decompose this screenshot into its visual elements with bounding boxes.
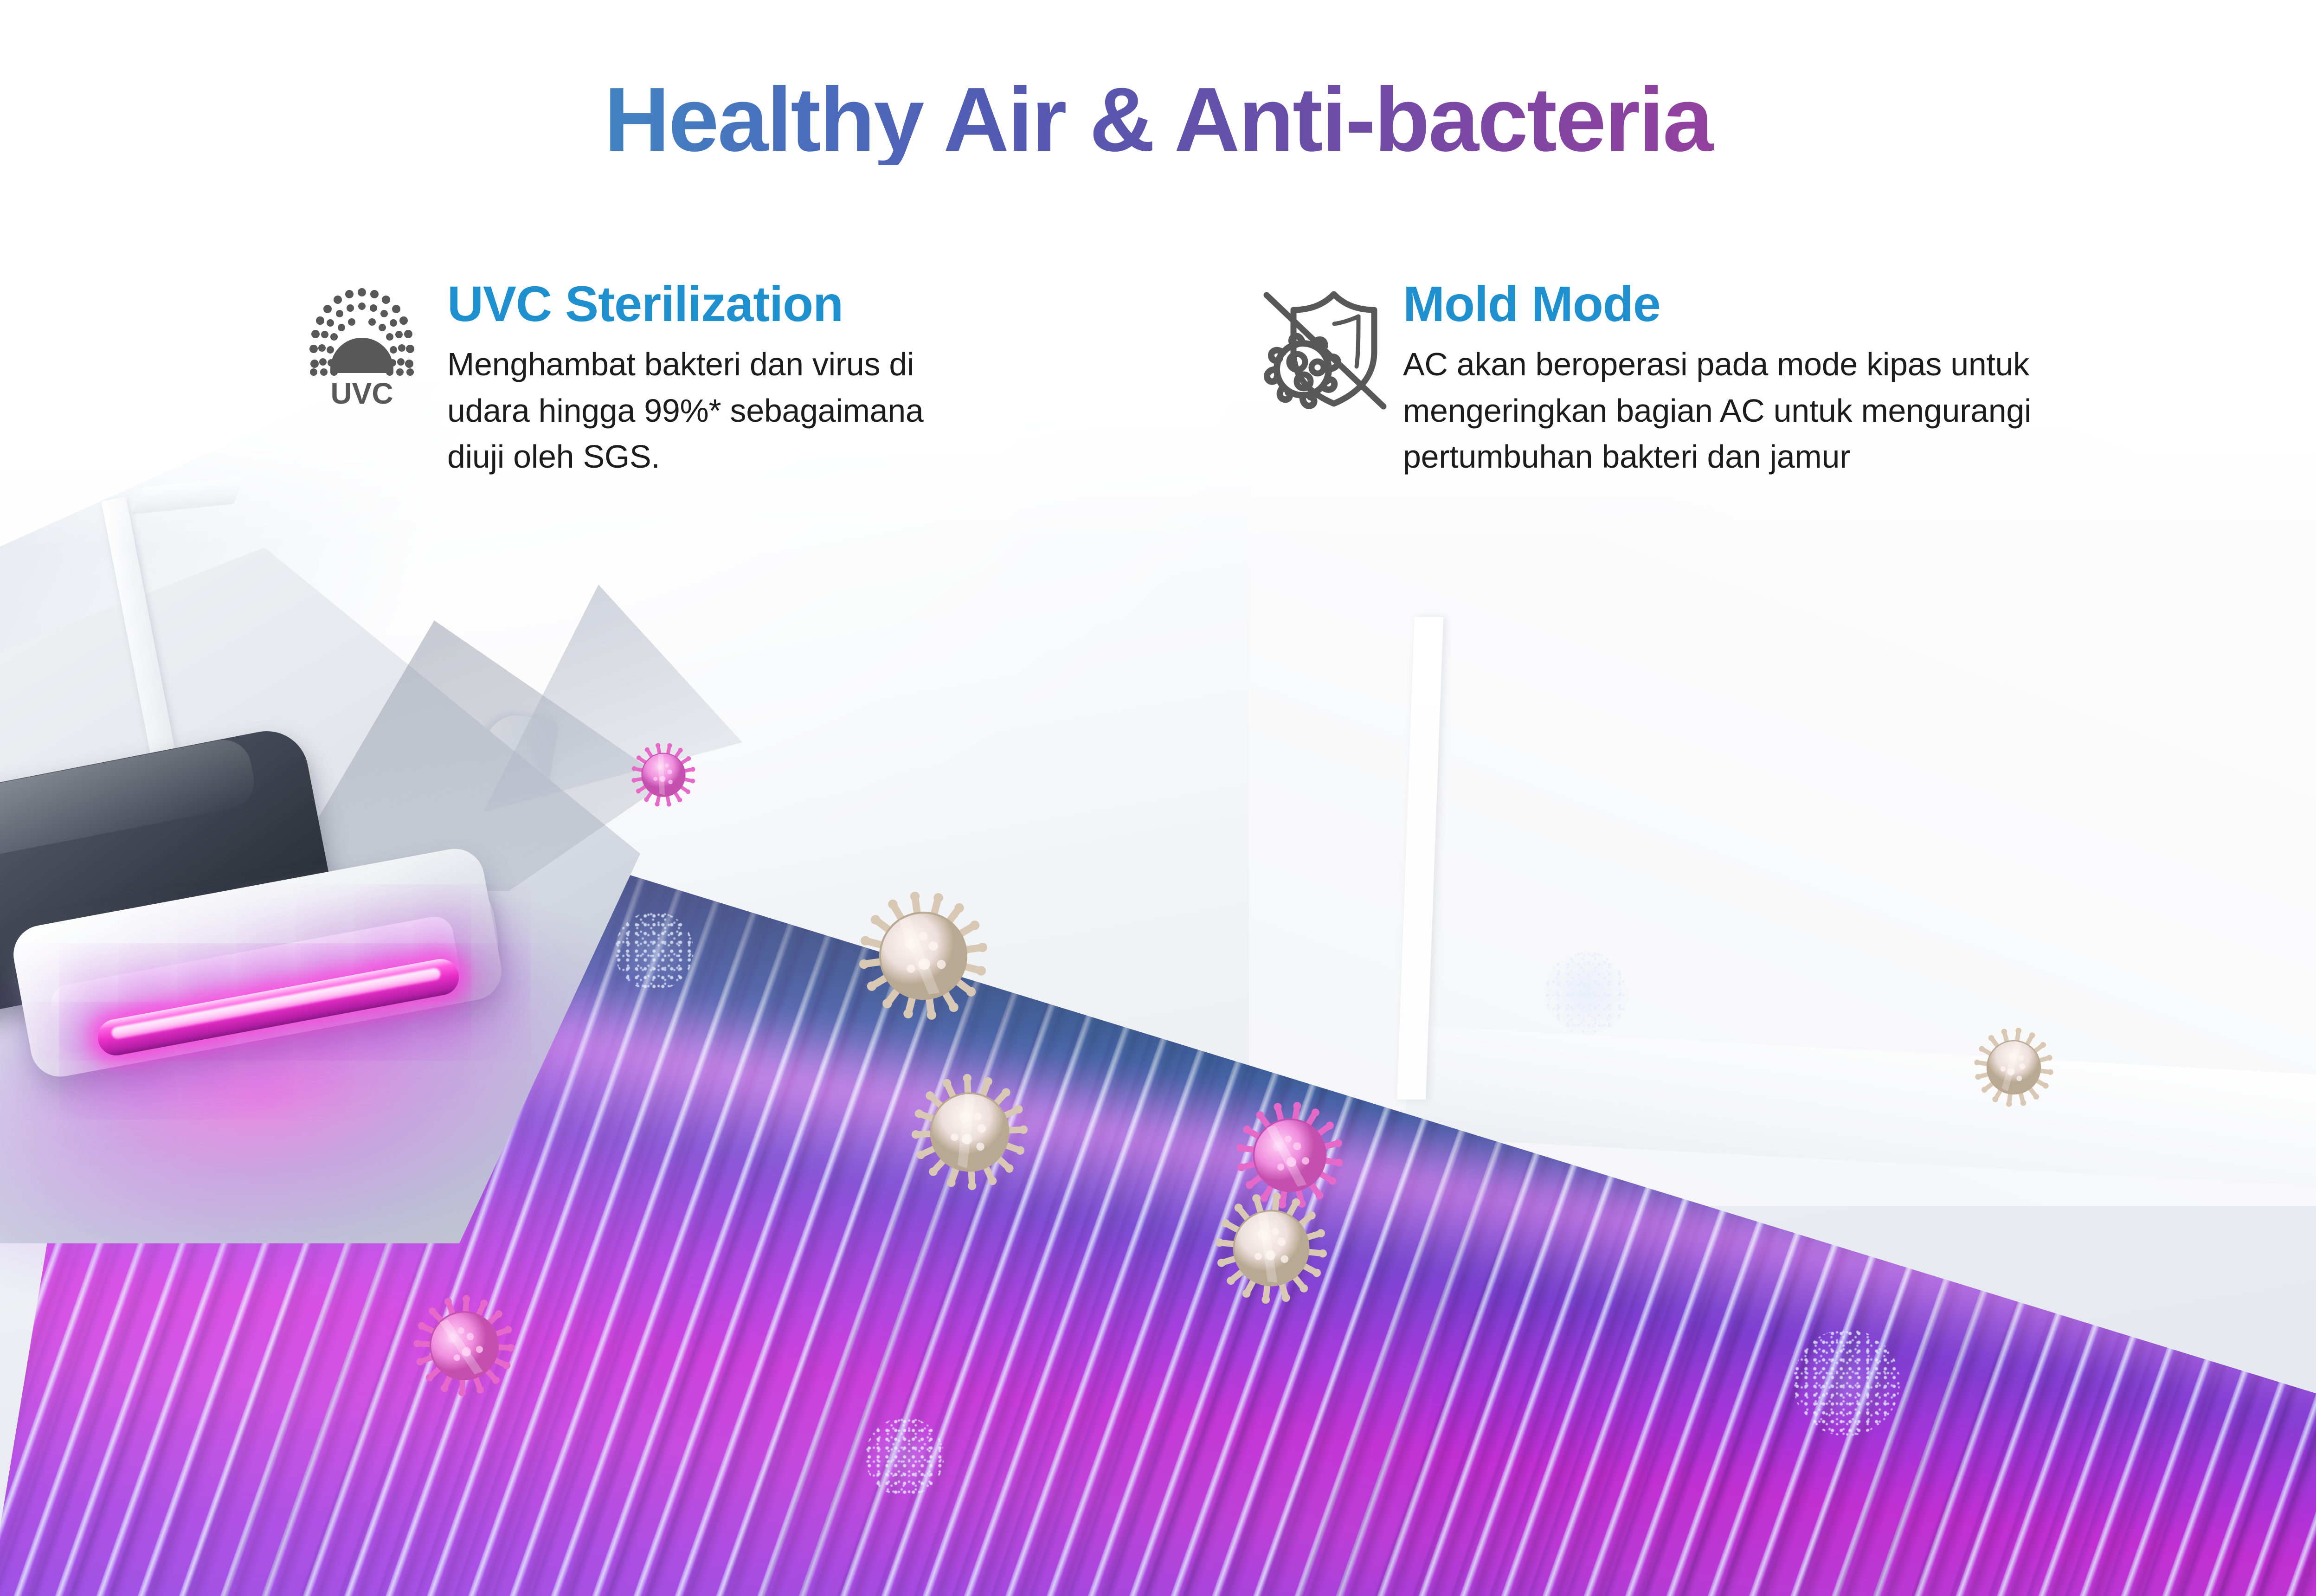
body-line: udara hingga 99%* sebagaimana	[447, 388, 924, 434]
body-line: AC akan beroperasi pada mode kipas untuk	[1403, 341, 2031, 387]
feature-body-uvc: Menghambat bakteri dan virus di udara hi…	[447, 341, 924, 480]
feature-mold-mode: Mold Mode AC akan beroperasi pada mode k…	[1253, 278, 2227, 480]
promo-banner: Healthy Air & Anti-bacteria	[0, 0, 2316, 1596]
uvc-lamp-icon: UVC	[297, 278, 436, 407]
body-line: mengeringkan bagian AC untuk mengurangi	[1403, 388, 2031, 434]
feature-title-uvc: UVC Sterilization	[447, 278, 924, 329]
feature-body-mold: AC akan beroperasi pada mode kipas untuk…	[1403, 341, 2031, 480]
shield-germ-blocked-icon	[1253, 278, 1392, 417]
banner-content: Healthy Air & Anti-bacteria	[0, 0, 2316, 1596]
feature-uvc-sterilization: UVC UVC Sterilization Menghambat bakteri…	[297, 278, 1253, 480]
body-line: diuji oleh SGS.	[447, 434, 924, 480]
body-line: pertumbuhan bakteri dan jamur	[1403, 434, 2031, 480]
uvc-icon-label: UVC	[330, 377, 393, 407]
page-title: Healthy Air & Anti-bacteria	[0, 74, 2316, 165]
feature-text-block: UVC Sterilization Menghambat bakteri dan…	[436, 278, 924, 480]
feature-title-mold: Mold Mode	[1403, 278, 2031, 329]
feature-list: UVC UVC Sterilization Menghambat bakteri…	[0, 278, 2316, 480]
body-line: Menghambat bakteri dan virus di	[447, 341, 924, 387]
feature-text-block: Mold Mode AC akan beroperasi pada mode k…	[1392, 278, 2031, 480]
